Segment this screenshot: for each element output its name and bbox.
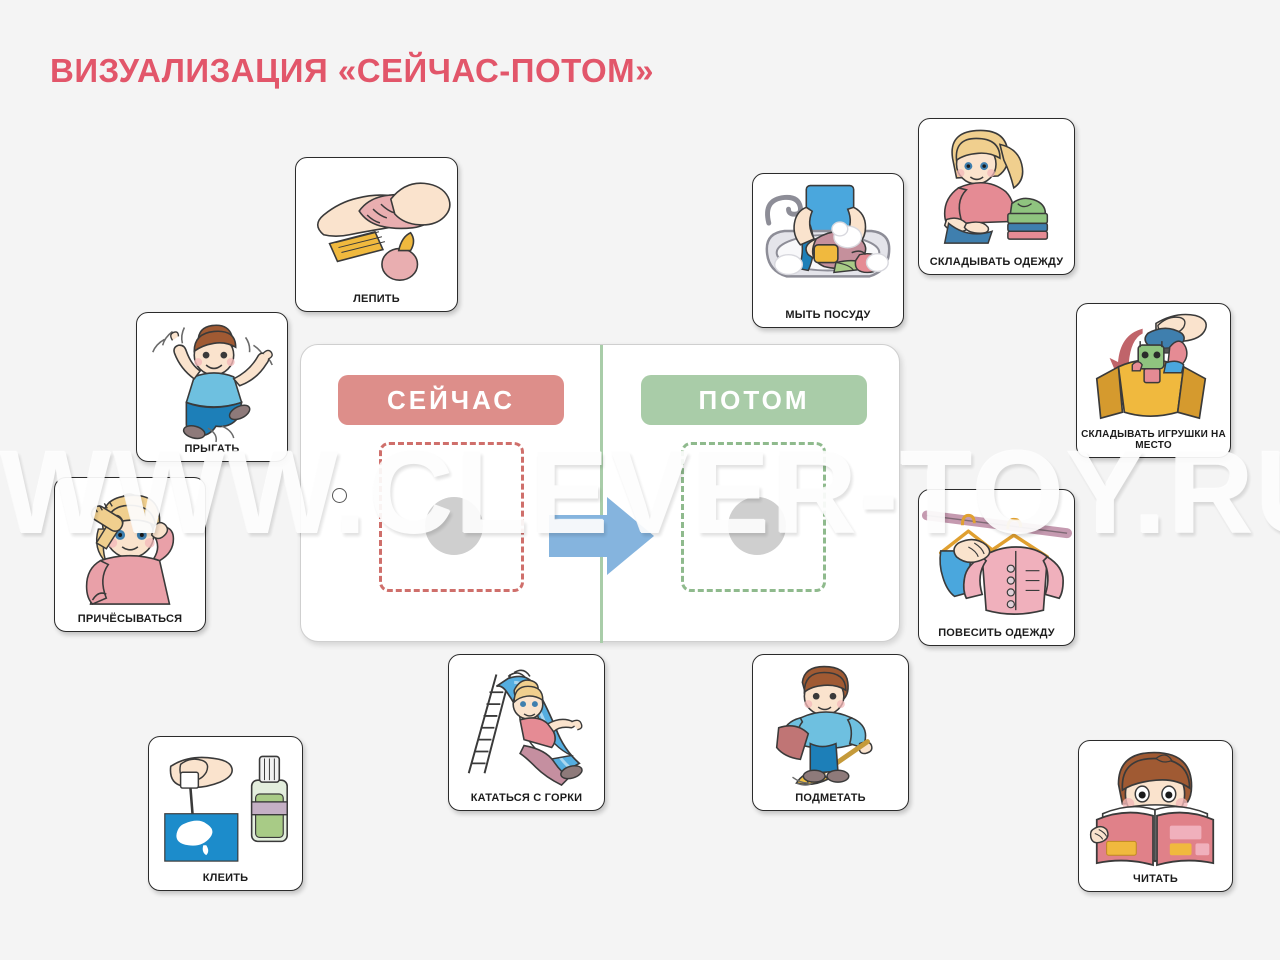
card-label: СКЛАДЫВАТЬ ОДЕЖДУ <box>919 256 1074 274</box>
then-slot-dot <box>728 497 786 555</box>
card-label: ПРИЧЁСЫВАТЬСЯ <box>55 613 205 631</box>
card-lepit[interactable]: ЛЕПИТЬ <box>295 157 458 312</box>
card-label: ЧИТАТЬ <box>1079 873 1232 891</box>
page-title: ВИЗУАЛИЗАЦИЯ «СЕЙЧАС-ПОТОМ» <box>50 52 654 90</box>
hanging-clothes-icon <box>919 490 1074 627</box>
card-skladyvat-odezhdu[interactable]: СКЛАДЫВАТЬ ОДЕЖДУ <box>918 118 1075 275</box>
then-header-pill: ПОТОМ <box>641 375 867 425</box>
board-divider <box>600 345 603 643</box>
hands-clay-icon <box>296 158 457 293</box>
card-label: ПОВЕСИТЬ ОДЕЖДУ <box>919 627 1074 645</box>
card-label: МЫТЬ ПОСУДУ <box>753 309 903 327</box>
boy-sweeping-icon <box>753 655 908 792</box>
child-on-slide-icon <box>449 655 604 792</box>
right-arrow-icon <box>549 497 654 575</box>
card-kleit[interactable]: КЛЕИТЬ <box>148 736 303 891</box>
card-povesit-odezhdu[interactable]: ПОВЕСИТЬ ОДЕЖДУ <box>918 489 1075 646</box>
then-label: ПОТОМ <box>698 385 809 416</box>
card-label: КАТАТЬСЯ С ГОРКИ <box>449 792 604 810</box>
card-label: ПОДМЕТАТЬ <box>753 792 908 810</box>
card-podmetat[interactable]: ПОДМЕТАТЬ <box>752 654 909 811</box>
now-label: СЕЙЧАС <box>387 385 515 416</box>
card-chitat[interactable]: ЧИТАТЬ <box>1078 740 1233 892</box>
card-label: ЛЕПИТЬ <box>296 293 457 311</box>
toys-in-box-icon <box>1077 304 1230 429</box>
card-skladyvat-igrushki[interactable]: СКЛАДЫВАТЬ ИГРУШКИ НА МЕСТО <box>1076 303 1231 458</box>
girl-brushing-hair-icon <box>55 478 205 613</box>
card-label: СКЛАДЫВАТЬ ИГРУШКИ НА МЕСТО <box>1077 429 1230 457</box>
now-then-board: СЕЙЧАС ПОТОМ <box>300 344 900 642</box>
card-prygat[interactable]: ПРЫГАТЬ <box>136 312 288 462</box>
card-label: ПРЫГАТЬ <box>137 443 287 461</box>
velcro-ring-icon <box>332 488 347 503</box>
washing-dishes-icon <box>753 174 903 309</box>
poster-canvas: ВИЗУАЛИЗАЦИЯ «СЕЙЧАС-ПОТОМ» СЕЙЧАС ПОТОМ <box>0 0 1280 960</box>
jumping-boy-icon <box>137 313 287 443</box>
card-myt-posudu[interactable]: МЫТЬ ПОСУДУ <box>752 173 904 328</box>
card-katatsya-s-gorki[interactable]: КАТАТЬСЯ С ГОРКИ <box>448 654 605 811</box>
glue-bottle-icon <box>149 737 302 872</box>
now-header-pill: СЕЙЧАС <box>338 375 564 425</box>
card-prichesyvatsya[interactable]: ПРИЧЁСЫВАТЬСЯ <box>54 477 206 632</box>
card-label: КЛЕИТЬ <box>149 872 302 890</box>
now-slot-dot <box>425 497 483 555</box>
boy-reading-icon <box>1079 741 1232 873</box>
folding-clothes-icon <box>919 119 1074 256</box>
